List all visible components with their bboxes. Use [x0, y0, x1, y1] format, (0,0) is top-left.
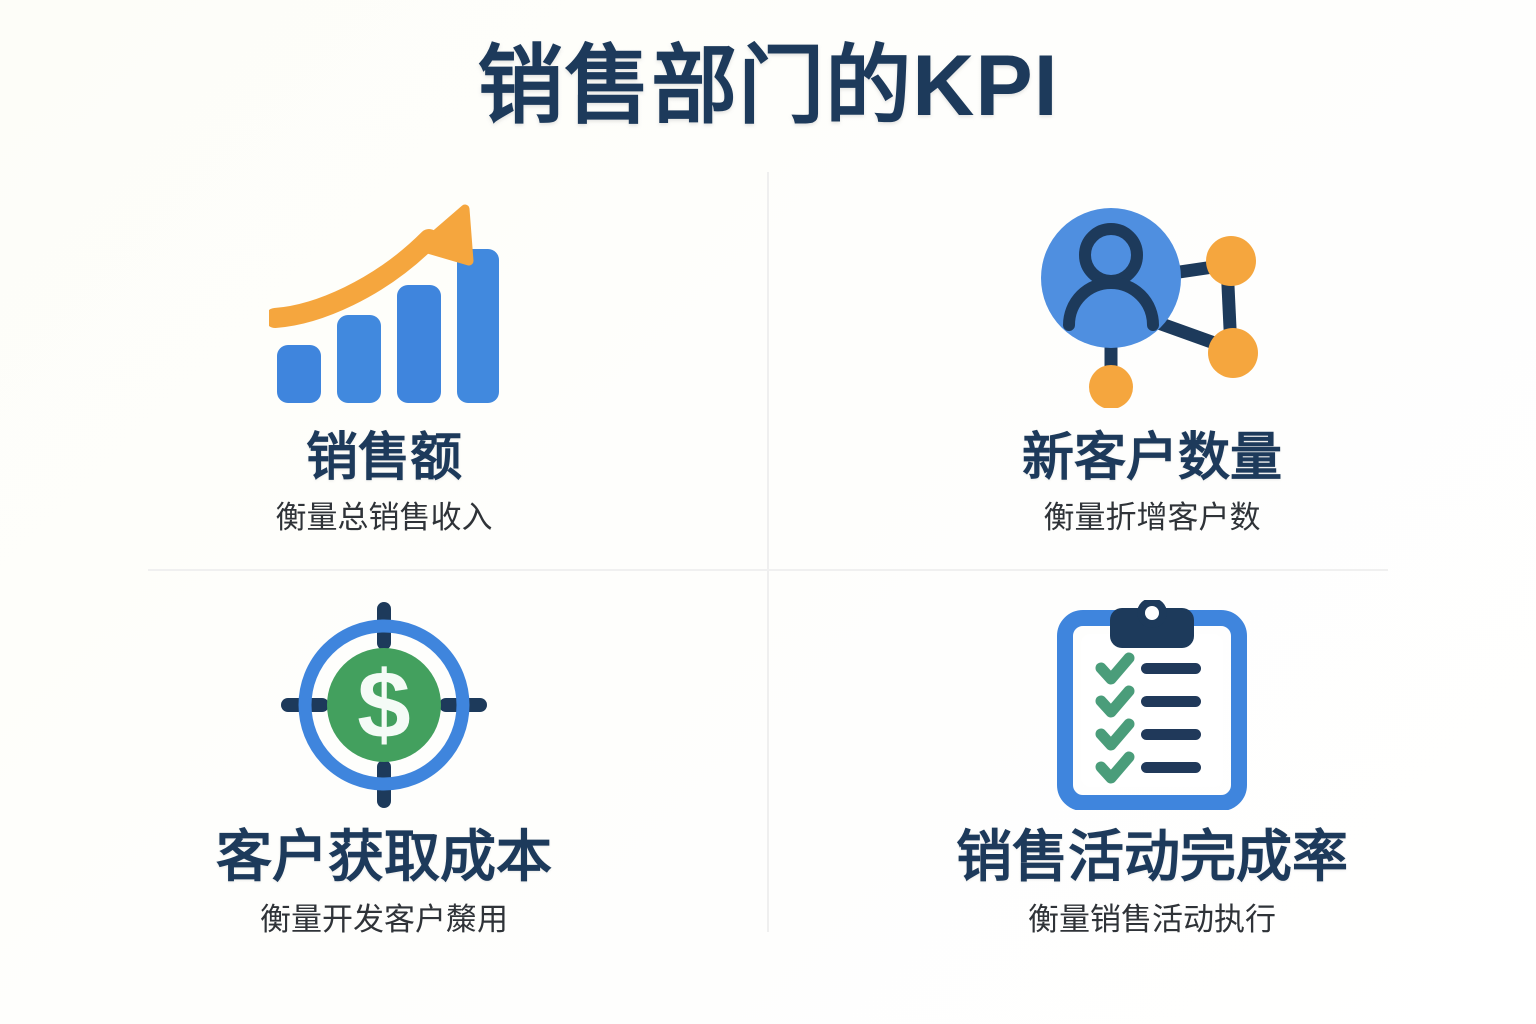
quadrant-subtitle: 衡量总销售收入	[276, 499, 493, 536]
quadrant-title: 客户获取成本	[216, 826, 552, 889]
kpi-infographic: 销售部门的KPI 销售额 衡量总销售收入	[0, 0, 1536, 1024]
icon-container	[1057, 600, 1247, 810]
quadrant-subtitle: 衡量折增客户数	[1044, 499, 1261, 536]
icon-container	[269, 198, 499, 413]
user-network-icon	[1041, 203, 1263, 408]
quadrant-title: 销售活动完成率	[956, 826, 1348, 889]
quadrant-acquisition-cost[interactable]: $ 客户获取成本 衡量开发客户斄用	[0, 570, 768, 1024]
title-container: 销售部门的KPI	[0, 0, 1536, 172]
quadrant-title: 新客户数量	[1022, 429, 1282, 487]
bar-chart-growth-icon	[269, 203, 499, 408]
svg-text:$: $	[357, 652, 410, 759]
quadrant-sales-revenue[interactable]: 销售额 衡量总销售收入	[0, 172, 768, 570]
quadrant-activity-completion[interactable]: 销售活动完成率 衡量销售活动执行	[768, 570, 1536, 1024]
target-dollar-icon: $	[279, 600, 489, 810]
page-title: 销售部门的KPI	[477, 43, 1058, 129]
quadrant-subtitle: 衡量开发客户斄用	[260, 901, 508, 938]
quadrant-grid: 销售额 衡量总销售收入	[0, 172, 1536, 1024]
icon-container	[1041, 198, 1263, 413]
quadrant-title: 销售额	[306, 429, 462, 487]
icon-container: $	[279, 600, 489, 810]
clipboard-checklist-icon	[1057, 600, 1247, 810]
quadrant-subtitle: 衡量销售活动执行	[1028, 901, 1276, 938]
quadrant-new-customers[interactable]: 新客户数量 衡量折增客户数	[768, 172, 1536, 570]
